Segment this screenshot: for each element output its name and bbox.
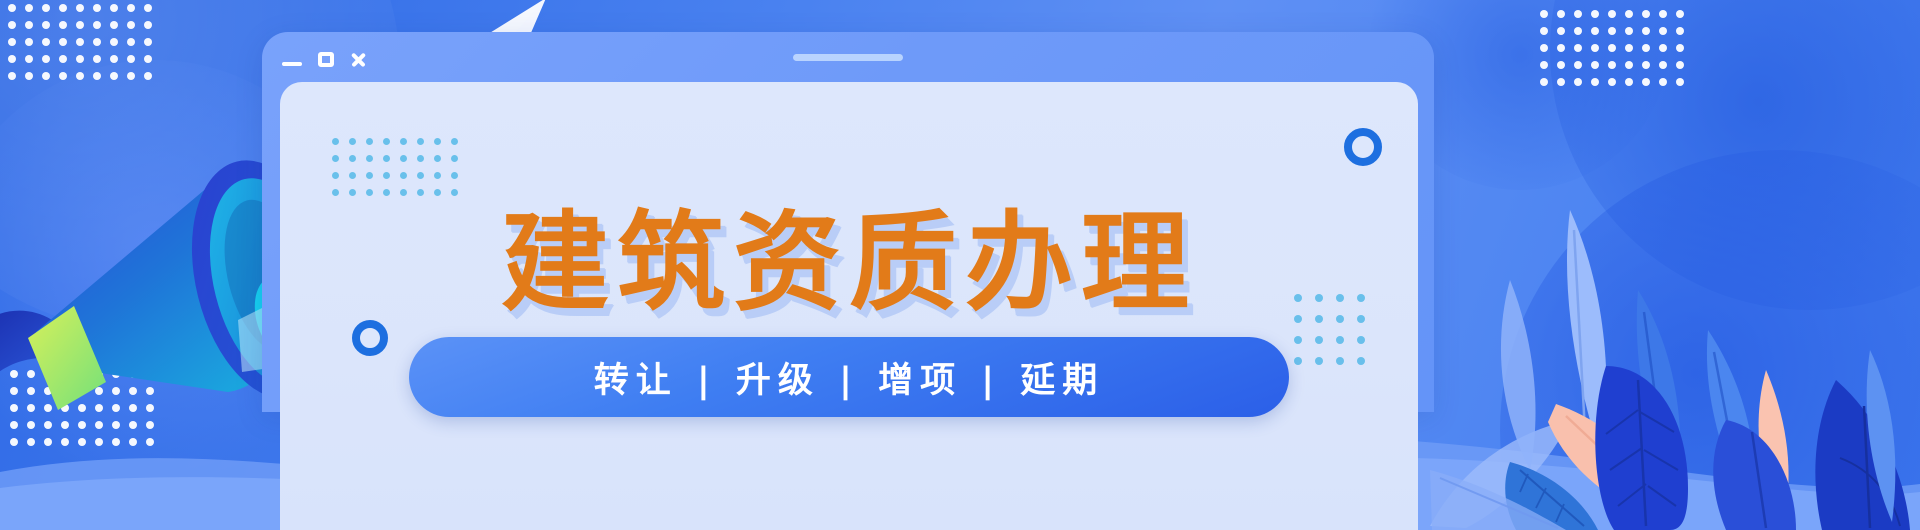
window-minimize-icon[interactable] <box>282 62 302 66</box>
dot-grid-headline-left <box>332 138 462 214</box>
ring-circle-decoration <box>1344 128 1382 166</box>
content-panel: 建筑资质办理 转让 | 升级 | 增项 | 延期 <box>280 82 1418 530</box>
page-title: 建筑资质办理 <box>280 210 1418 318</box>
dot-grid-top-left <box>8 4 158 94</box>
ring-circle-decoration <box>352 320 388 356</box>
window-maximize-icon[interactable] <box>318 52 334 67</box>
window-close-icon[interactable] <box>350 51 367 68</box>
dot-grid-top-right <box>1540 10 1690 100</box>
cta-button-label: 转让 | 升级 | 增项 | 延期 <box>594 352 1104 403</box>
promo-banner: 建筑资质办理 转让 | 升级 | 增项 | 延期 <box>0 0 1920 530</box>
dot-grid-bottom-left <box>10 370 160 460</box>
window-title-pill <box>793 54 903 61</box>
background-blob <box>1500 150 1920 530</box>
plant-leaves-illustration <box>1370 170 1920 530</box>
cta-button[interactable]: 转让 | 升级 | 增项 | 延期 <box>409 337 1289 417</box>
background-blob <box>1550 0 1920 310</box>
window-controls <box>282 48 367 70</box>
